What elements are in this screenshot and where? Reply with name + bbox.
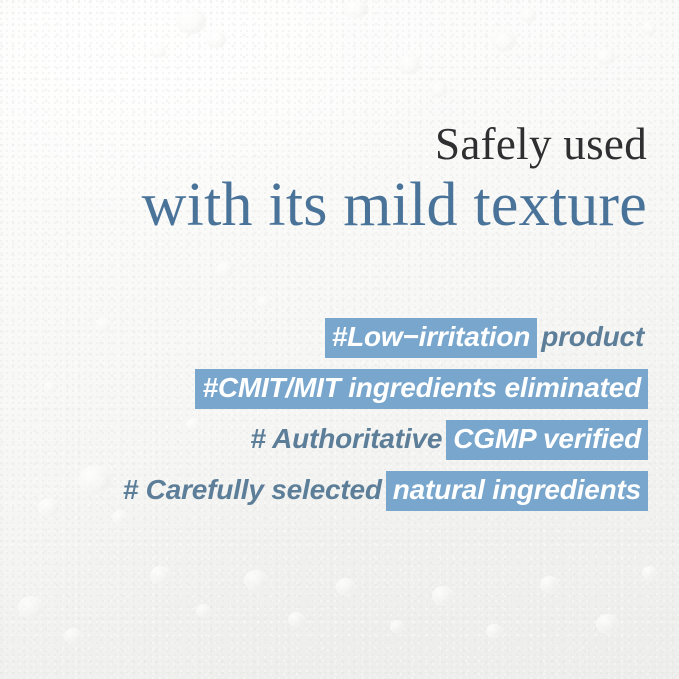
feature-plain-text: product [537,318,648,358]
feature-row: #Low−irritationproduct [119,318,648,358]
feature-row: # Carefully selectednatural ingredients [119,471,648,511]
feature-highlight-text: #CMIT/MIT ingredients eliminated [195,369,648,409]
feature-highlight-text: #Low−irritation [325,318,537,358]
feature-row: # AuthoritativeCGMP verified [119,420,648,460]
feature-plain-text: # Authoritative [246,420,446,460]
headline-line-2: with its mild texture [142,174,647,237]
promo-poster: Safely used with its mild texture #Low−i… [0,0,679,679]
feature-row: #CMIT/MIT ingredients eliminated [119,369,648,409]
feature-highlight-text: natural ingredients [386,471,648,511]
feature-plain-text: # Carefully selected [119,471,386,511]
headline-line-1: Safely used [142,122,647,168]
feature-list: #Low−irritationproduct#CMIT/MIT ingredie… [119,318,648,511]
feature-highlight-text: CGMP verified [446,420,648,460]
headline-block: Safely used with its mild texture [142,122,647,237]
